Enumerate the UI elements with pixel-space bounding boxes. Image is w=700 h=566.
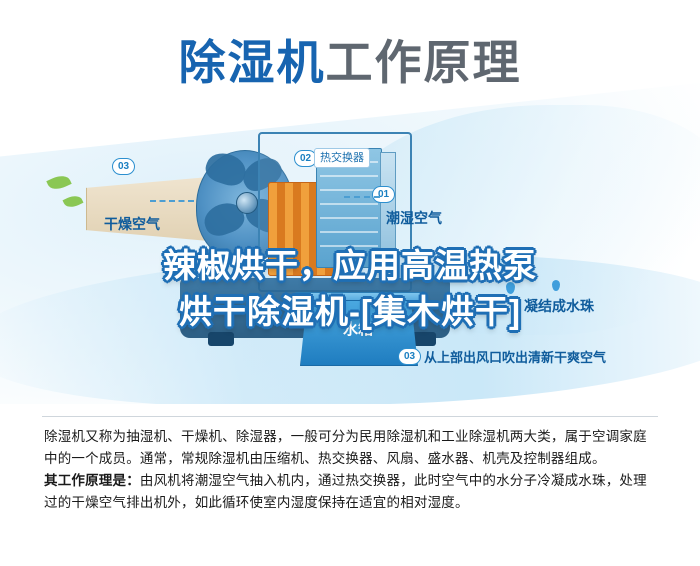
page-title-gray: 工作原理	[326, 36, 522, 89]
paragraph-2: 其工作原理是：由风机将潮湿空气抽入机内，通过热交换器，此时空气中的水分子冷凝成水…	[44, 470, 658, 514]
number-badge-03-bottom: 03	[398, 348, 421, 365]
page-title: 除湿机工作原理	[0, 24, 700, 93]
infographic-page: 除湿机工作原理 干燥空气 03 02	[0, 0, 700, 566]
divider	[42, 416, 658, 417]
airflow-arrow	[344, 196, 380, 198]
paragraph-2-label: 其工作原理是：	[44, 473, 140, 488]
description-block: 除湿机又称为抽湿机、干燥机、除湿器，一般可分为民用除湿机和工业除湿机两大类，属于…	[0, 404, 700, 566]
heat-exchanger-tag: 热交换器	[314, 148, 370, 168]
airflow-arrow	[150, 200, 194, 202]
fan-hub	[236, 192, 258, 214]
bottom-note-label: 从上部出风口吹出清新干爽空气	[424, 347, 606, 366]
paragraph-1: 除湿机又称为抽湿机、干燥机、除湿器，一般可分为民用除湿机和工业除湿机两大类，属于…	[44, 426, 658, 470]
page-title-blue: 除湿机	[179, 36, 326, 89]
headline-overlay: 辣椒烘干，应用高温热泵 烘干除湿机-[集木烘干]	[0, 243, 700, 335]
dry-air-label: 干燥空气	[104, 214, 160, 234]
headline-line-1: 辣椒烘干，应用高温热泵	[0, 243, 700, 289]
number-badge-01: 01	[372, 186, 395, 203]
diagram-area: 除湿机工作原理 干燥空气 03 02	[0, 0, 700, 404]
number-badge-03-left: 03	[112, 158, 135, 175]
headline-line-2: 烘干除湿机-[集木烘干]	[0, 289, 700, 335]
humid-air-label: 潮湿空气	[386, 208, 442, 228]
